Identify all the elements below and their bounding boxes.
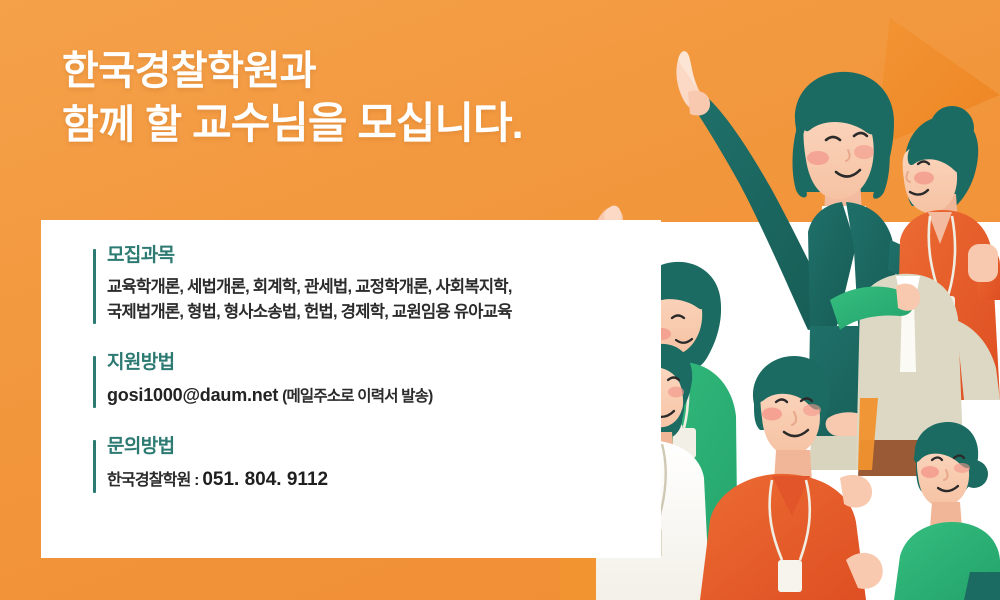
- subjects-line-2: 국제법개론, 형법, 형사소송법, 헌법, 경제학, 교원임용 유아교육: [107, 300, 633, 326]
- section-apply-title: 지원방법: [107, 352, 633, 375]
- contact-line: 한국경찰학원 : 051. 804. 9112: [107, 465, 633, 494]
- headline: 한국경찰학원과 함께 할 교수님을 모십니다.: [62, 46, 523, 152]
- headline-line-2: 함께 할 교수님을 모십니다.: [62, 97, 523, 152]
- recruitment-banner: 한국경찰학원과 함께 할 교수님을 모십니다. 모집과목 교육학개론, 세법개론…: [0, 0, 1000, 600]
- headline-light-part: 함께 할: [62, 103, 192, 147]
- accent-bar-icon: [93, 249, 96, 324]
- subjects-line-1: 교육학개론, 세법개론, 회계학, 관세법, 교정학개론, 사회복지학,: [107, 275, 633, 301]
- contact-phone-number[interactable]: 051. 804. 9112: [202, 469, 328, 490]
- accent-bar-icon: [93, 356, 96, 408]
- info-card-content: 모집과목 교육학개론, 세법개론, 회계학, 관세법, 교정학개론, 사회복지학…: [93, 245, 633, 495]
- section-subjects-body: 교육학개론, 세법개론, 회계학, 관세법, 교정학개론, 사회복지학, 국제법…: [107, 275, 633, 326]
- section-apply-body: gosi1000@daum.net (메일주소로 이력서 발송): [107, 382, 633, 410]
- contact-label: 한국경찰학원 :: [107, 472, 202, 489]
- section-apply-method: 지원방법 gosi1000@daum.net (메일주소로 이력서 발송): [93, 352, 633, 410]
- badge: [778, 560, 802, 592]
- accent-bar-icon: [93, 440, 96, 493]
- section-subjects-title: 모집과목: [107, 245, 633, 268]
- email-note: (메일주소로 이력서 발송): [282, 388, 432, 405]
- info-card: 모집과목 교육학개론, 세법개론, 회계학, 관세법, 교정학개론, 사회복지학…: [41, 220, 661, 558]
- headline-strong-part: 교수님을 모십니다.: [192, 100, 522, 148]
- apply-line: gosi1000@daum.net (메일주소로 이력서 발송): [107, 382, 633, 410]
- section-subjects: 모집과목 교육학개론, 세법개론, 회계학, 관세법, 교정학개론, 사회복지학…: [93, 245, 633, 326]
- email-address[interactable]: gosi1000@daum.net: [107, 385, 278, 405]
- section-contact-title: 문의방법: [107, 436, 633, 459]
- section-contact-body: 한국경찰학원 : 051. 804. 9112: [107, 465, 633, 494]
- section-contact-method: 문의방법 한국경찰학원 : 051. 804. 9112: [93, 436, 633, 495]
- headline-line-1: 한국경찰학원과: [62, 46, 523, 97]
